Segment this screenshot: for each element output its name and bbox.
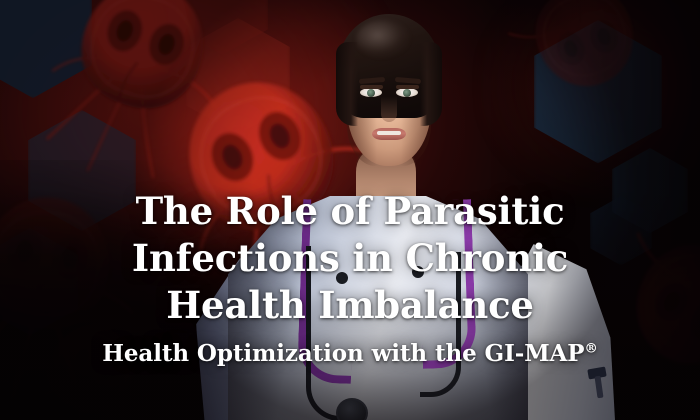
banner-headline: The Role of Parasitic Infections in Chro… bbox=[0, 188, 700, 329]
hair-side-right bbox=[420, 42, 442, 126]
text-overlay: The Role of Parasitic Infections in Chro… bbox=[0, 188, 700, 368]
banner-subheadline: Health Optimization with the GI-MAP® bbox=[0, 340, 700, 368]
headline-line-3: Health Imbalance bbox=[42, 282, 658, 329]
subheadline-text: Health Optimization with the GI-MAP bbox=[102, 340, 584, 367]
iris-left bbox=[367, 89, 375, 97]
iris-right bbox=[403, 89, 411, 97]
hero-banner: The Role of Parasitic Infections in Chro… bbox=[0, 0, 700, 420]
hair-side-left bbox=[336, 42, 358, 126]
registered-trademark-symbol: ® bbox=[585, 340, 598, 356]
hair-highlight bbox=[356, 20, 410, 58]
headline-line-1: The Role of Parasitic bbox=[42, 188, 658, 235]
eyelid-left bbox=[360, 85, 383, 89]
teeth bbox=[377, 131, 401, 135]
stethoscope-chestpiece bbox=[336, 398, 368, 420]
nose bbox=[381, 96, 397, 122]
eyelid-right bbox=[396, 85, 419, 89]
headline-line-2: Infections in Chronic bbox=[42, 235, 658, 282]
